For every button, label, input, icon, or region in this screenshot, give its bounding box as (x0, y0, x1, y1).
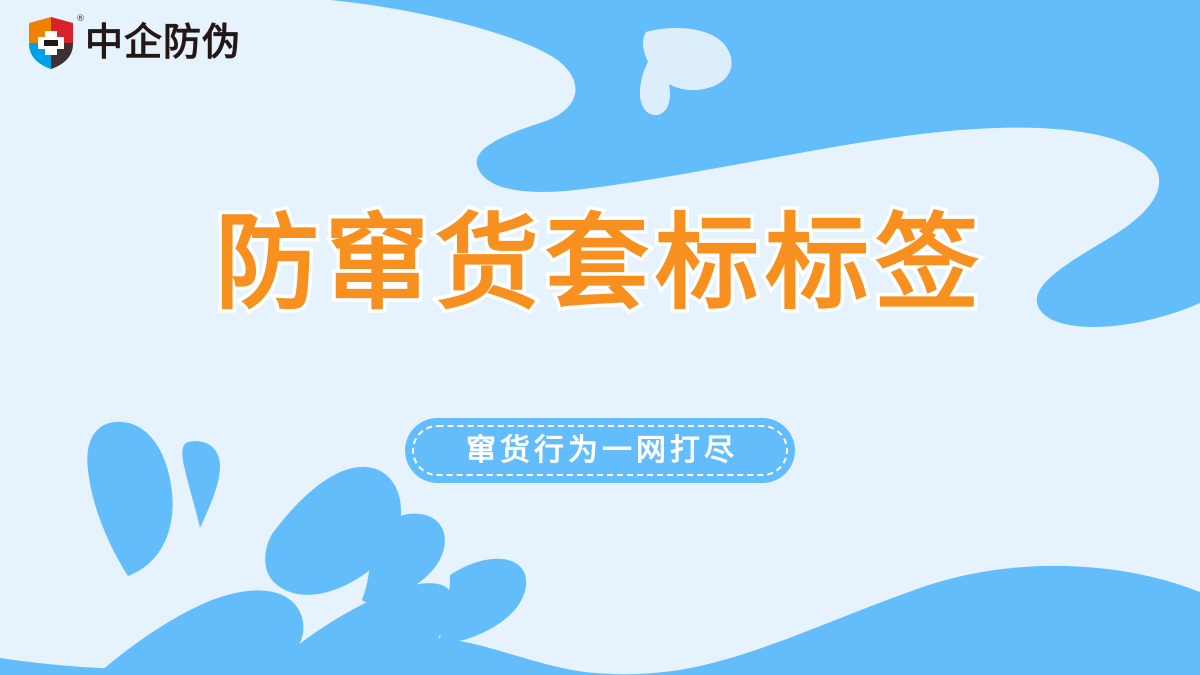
subtitle-pill[interactable]: 窜货行为一网打尽 (405, 418, 795, 483)
promo-banner: ® 中企防伪 防窜货套标标签 窜货行为一网打尽 (0, 0, 1200, 675)
background-artwork (0, 0, 1200, 675)
registered-trademark-mark: ® (76, 15, 85, 24)
brand-logo[interactable]: ® 中企防伪 (26, 16, 241, 70)
shield-logo-icon: ® (26, 16, 76, 70)
splash-droplet-7 (440, 559, 526, 642)
shield-emblem-bar (44, 40, 58, 46)
background-base (0, 0, 1200, 675)
page-title: 防窜货套标标签 (215, 205, 985, 321)
splash-droplet-1 (182, 441, 220, 528)
bottom-wave-shape (0, 566, 1200, 675)
splash-droplet-2 (87, 422, 172, 576)
water-droplet-large-icon (643, 28, 732, 90)
splash-droplet-4 (100, 590, 303, 675)
splash-droplet-5 (362, 514, 445, 603)
splash-droplet-6 (118, 639, 296, 675)
bottom-wave-crest-shape (262, 583, 453, 675)
subtitle-text: 窜货行为一网打尽 (462, 436, 738, 466)
headline-block: 防窜货套标标签 (0, 205, 1200, 321)
splash-droplet-3 (265, 467, 401, 595)
water-droplet-small-icon (640, 48, 670, 115)
brand-name-text: 中企防伪 (85, 23, 241, 63)
